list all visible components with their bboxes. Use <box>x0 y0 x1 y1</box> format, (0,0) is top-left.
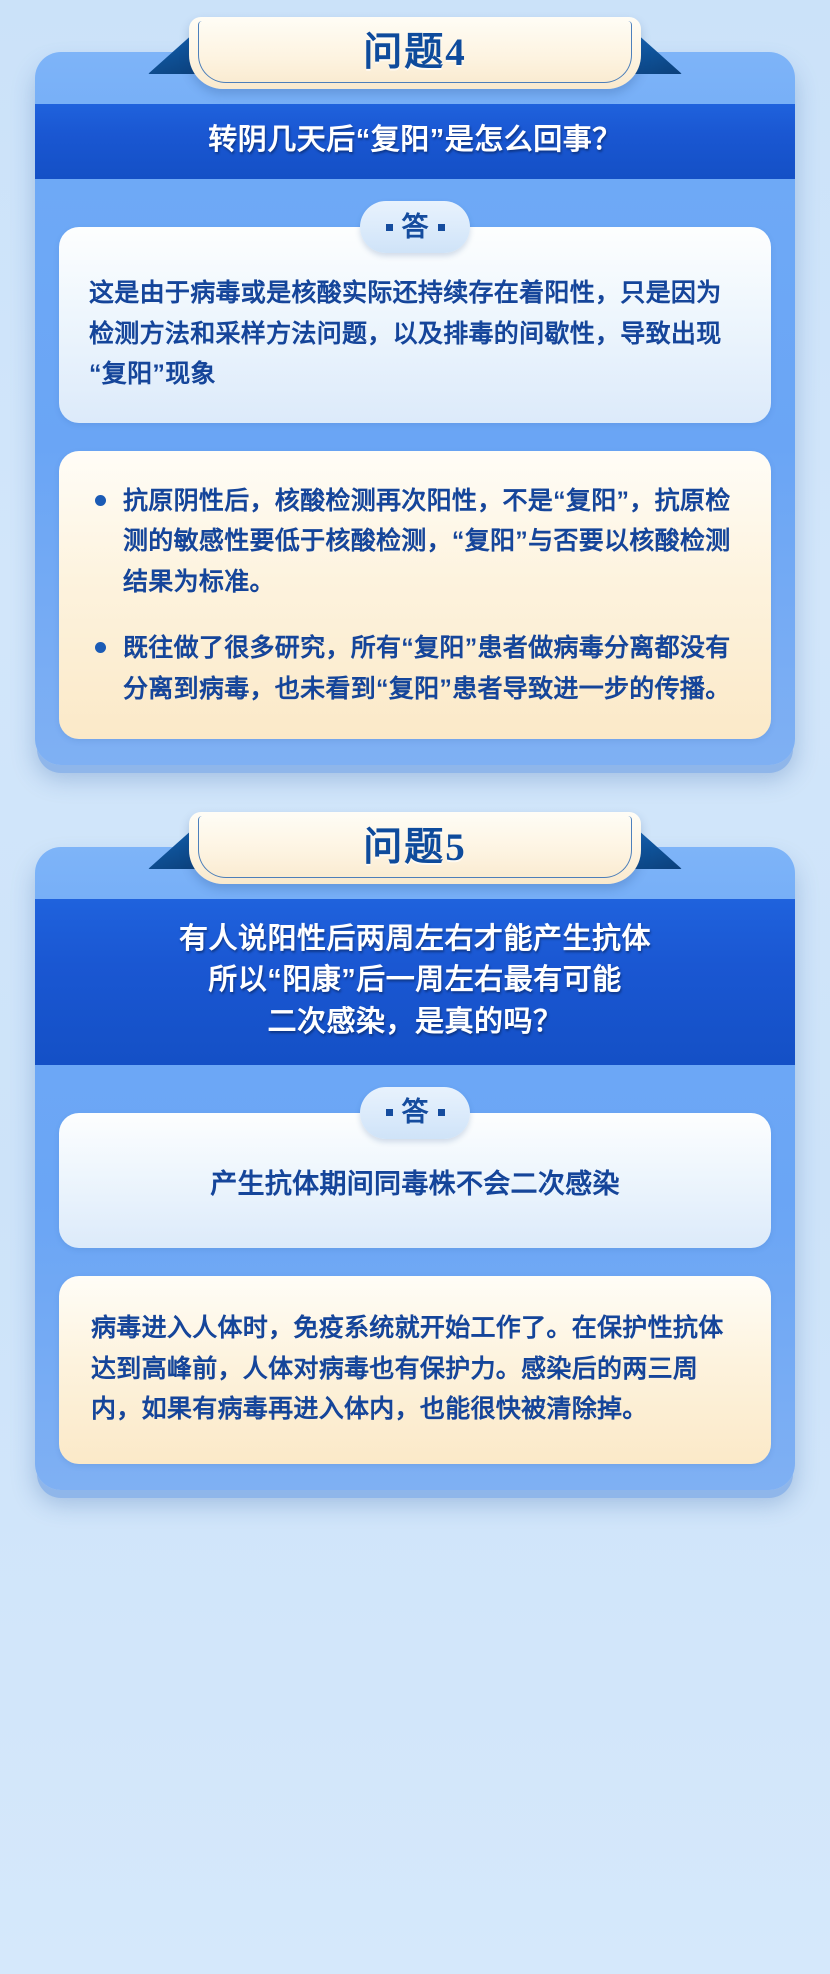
list-item: 既往做了很多研究，所有“复阳”患者做病毒分离都没有分离到病毒，也未看到“复阳”患… <box>89 628 741 709</box>
bullet-dot-icon <box>95 642 106 653</box>
badge-dot-right-icon <box>438 224 445 231</box>
infographic-page: 问题4 转阴几天后“复阳”是怎么回事？ 答 这是由于病毒或是核酸实际还持续存在着… <box>0 0 830 1974</box>
answer-paragraph-4: 这是由于病毒或是核酸实际还持续存在着阳性，只是因为检测方法和采样方法问题，以及排… <box>89 273 741 395</box>
question-title-bar-4: 转阴几天后“复阳”是怎么回事？ <box>35 104 795 179</box>
badge-dot-left-icon <box>386 1109 393 1116</box>
card-body-4: 转阴几天后“复阳”是怎么回事？ 答 这是由于病毒或是核酸实际还持续存在着阳性，只… <box>35 52 795 765</box>
ribbon-label-5: 问题5 <box>363 828 467 869</box>
question-title-bar-5: 有人说阳性后两周左右才能产生抗体 所以“阳康”后一周左右最有可能 二次感染，是真… <box>35 899 795 1065</box>
qa-card-question-5: 问题5 有人说阳性后两周左右才能产生抗体 所以“阳康”后一周左右最有可能 二次感… <box>35 809 795 1490</box>
answer-badge-5: 答 <box>360 1087 470 1139</box>
list-item: 抗原阴性后，核酸检测再次阳性，不是“复阳”，抗原检测的敏感性要低于核酸检测，“复… <box>89 481 741 603</box>
note-paragraph-5: 病毒进入人体时，免疫系统就开始工作了。在保护性抗体达到高峰前，人体对病毒也有保护… <box>91 1308 739 1430</box>
bullet-list-4: 抗原阴性后，核酸检测再次阳性，不是“复阳”，抗原检测的敏感性要低于核酸检测，“复… <box>89 481 741 710</box>
note-card-5: 病毒进入人体时，免疫系统就开始工作了。在保护性抗体达到高峰前，人体对病毒也有保护… <box>59 1276 771 1464</box>
bullet-card-4: 抗原阴性后，核酸检测再次阳性，不是“复阳”，抗原检测的敏感性要低于核酸检测，“复… <box>59 451 771 740</box>
bullet-dot-icon <box>95 495 106 506</box>
answer-badge-4: 答 <box>360 201 470 253</box>
question-title-line: 有人说阳性后两周左右才能产生抗体 <box>61 919 769 960</box>
question-title-line: 转阴几天后“复阳”是怎么回事？ <box>61 120 769 161</box>
badge-dot-right-icon <box>438 1109 445 1116</box>
question-title-line: 所以“阳康”后一周左右最有可能 <box>61 960 769 1001</box>
question-title-line: 二次感染，是真的吗？ <box>61 1002 769 1043</box>
answer-badge-label: 答 <box>402 214 429 241</box>
answer-card-4: 这是由于病毒或是核酸实际还持续存在着阳性，只是因为检测方法和采样方法问题，以及排… <box>59 227 771 423</box>
answer-badge-row-4: 答 <box>35 201 795 227</box>
answer-badge-row-5: 答 <box>35 1087 795 1113</box>
bullet-text: 既往做了很多研究，所有“复阳”患者做病毒分离都没有分离到病毒，也未看到“复阳”患… <box>123 634 731 703</box>
ribbon-banner-4: 问题4 <box>35 14 795 98</box>
ribbon-label-4: 问题4 <box>363 33 467 74</box>
bullet-text: 抗原阴性后，核酸检测再次阳性，不是“复阳”，抗原检测的敏感性要低于核酸检测，“复… <box>123 487 731 596</box>
badge-dot-left-icon <box>386 224 393 231</box>
qa-card-question-4: 问题4 转阴几天后“复阳”是怎么回事？ 答 这是由于病毒或是核酸实际还持续存在着… <box>35 14 795 765</box>
answer-paragraph-5: 产生抗体期间同毒株不会二次感染 <box>89 1159 741 1221</box>
answer-badge-label: 答 <box>402 1099 429 1126</box>
ribbon-banner-5: 问题5 <box>35 809 795 893</box>
card-body-5: 有人说阳性后两周左右才能产生抗体 所以“阳康”后一周左右最有可能 二次感染，是真… <box>35 847 795 1490</box>
